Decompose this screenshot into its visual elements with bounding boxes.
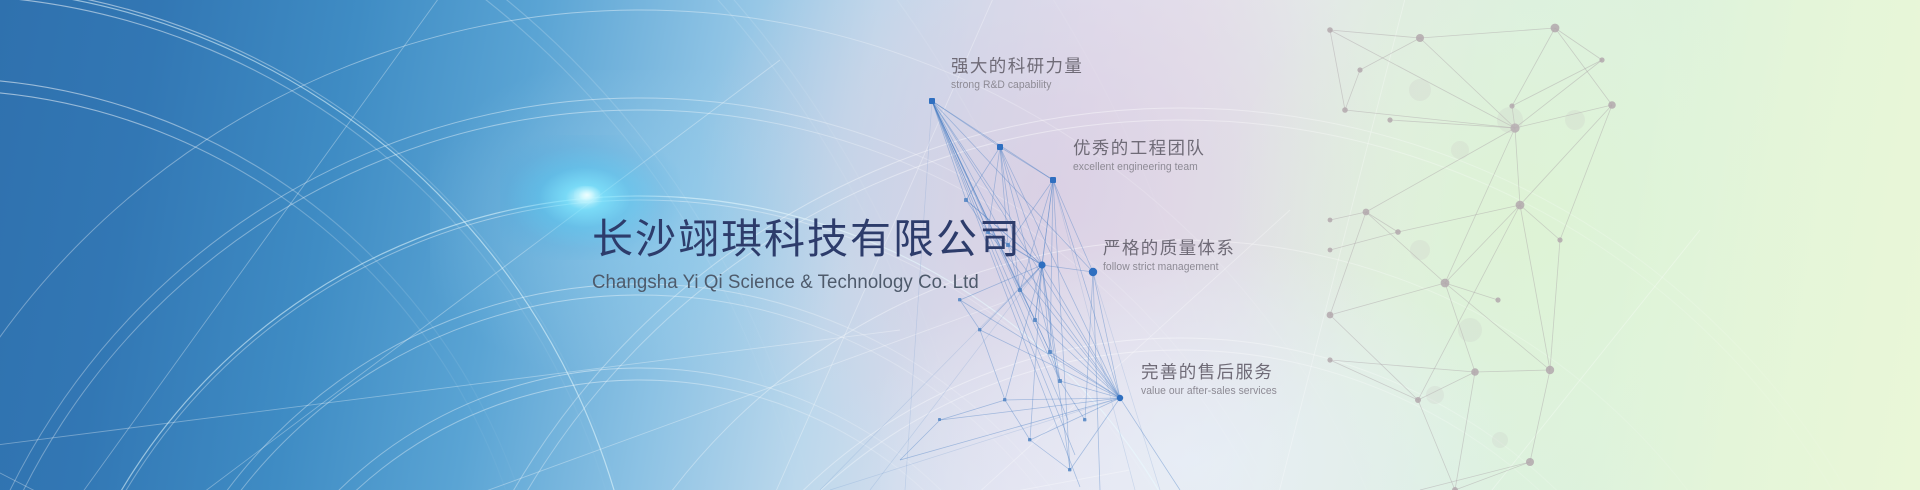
- feature-label-en: value our after-sales services: [1141, 385, 1277, 398]
- mint-tint: [1240, 0, 1800, 490]
- feature-label-cn: 强大的科研力量: [951, 56, 1083, 76]
- page-title: 长沙翊琪科技有限公司: [592, 218, 1012, 261]
- feature-label-engineering-team: 优秀的工程团队 excellent engineering team: [1073, 138, 1206, 174]
- hero-banner: 长沙翊琪科技有限公司 Changsha Yi Qi Science & Tech…: [0, 0, 1920, 490]
- feature-label-en: excellent engineering team: [1073, 161, 1198, 174]
- feature-label-rd-capability: 强大的科研力量 strong R&D capability: [951, 56, 1083, 92]
- feature-label-cn: 完善的售后服务: [1141, 362, 1286, 382]
- lens-flare-core: [574, 186, 600, 204]
- page-subtitle: Changsha Yi Qi Science & Technology Co. …: [592, 272, 993, 293]
- feature-label-en: strong R&D capability: [951, 79, 1075, 92]
- feature-label-cn: 严格的质量体系: [1103, 238, 1235, 258]
- feature-label-cn: 优秀的工程团队: [1073, 138, 1206, 158]
- feature-label-quality-system: 严格的质量体系 follow strict management: [1103, 238, 1235, 274]
- feature-label-after-sales-service: 完善的售后服务 value our after-sales services: [1141, 362, 1286, 398]
- feature-label-en: follow strict management: [1103, 261, 1227, 274]
- company-title-block: 长沙翊琪科技有限公司 Changsha Yi Qi Science & Tech…: [592, 218, 1012, 293]
